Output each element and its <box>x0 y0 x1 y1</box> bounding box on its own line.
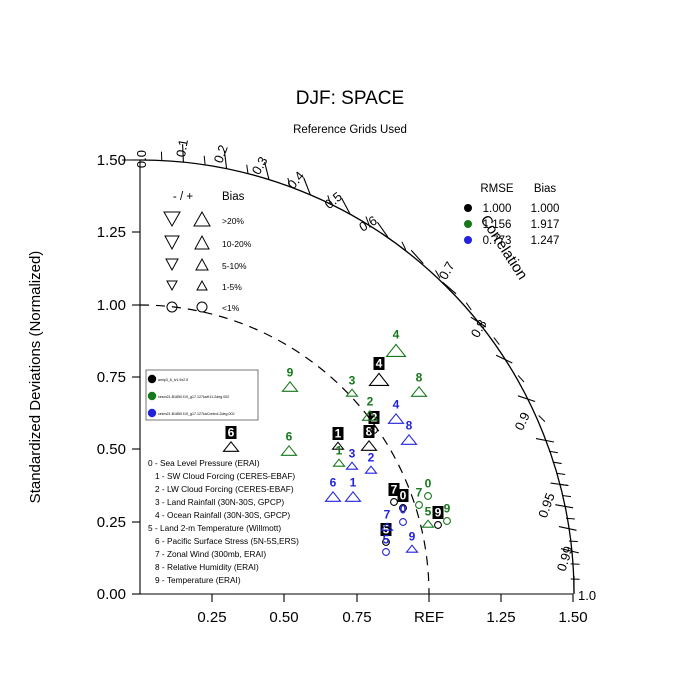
data-point[interactable]: 1 <box>334 444 345 467</box>
stats-legend-rmse-value: 1.000 <box>483 203 512 215</box>
bias-triangle-up-icon <box>196 259 208 270</box>
corr-label: 0.9 <box>511 410 532 433</box>
page-title: DJF: SPACE <box>296 88 404 109</box>
point-triangle-up-icon <box>347 462 358 469</box>
point-circle-icon <box>400 519 407 526</box>
case-dot-icon <box>148 392 156 400</box>
point-triangle-up-icon <box>423 520 434 527</box>
y-axis-label: Standardized Deviations (Normalized) <box>27 251 44 504</box>
data-point[interactable]: 4 <box>387 328 406 357</box>
point-label: 7 <box>416 486 423 500</box>
data-point[interactable]: 8 <box>402 419 417 445</box>
point-label: 9 <box>444 502 451 516</box>
page-subtitle: Reference Grids Used <box>293 124 407 136</box>
point-circle-icon <box>435 522 442 529</box>
data-point[interactable]: 8 <box>362 425 377 451</box>
point-circle-icon <box>444 518 451 525</box>
x-tick-label: 0.75 <box>342 609 371 626</box>
variable-list-item: 8 - Relative Humidity (ERAI) <box>155 562 259 572</box>
variable-list-item: 7 - Zonal Wind (300mb, ERAI) <box>155 549 266 559</box>
point-label: 8 <box>406 419 413 433</box>
x-tick-label: 1.25 <box>486 609 515 626</box>
data-point[interactable]: 5 <box>423 505 434 528</box>
corr-label: 0.99 <box>554 544 576 573</box>
stats-legend-bias-header: Bias <box>534 183 557 195</box>
bias-triangle-down-icon <box>166 259 178 270</box>
case-dot-icon <box>148 409 156 417</box>
point-label: 8 <box>416 371 423 385</box>
stats-legend-rmse-value: 0.773 <box>483 235 512 247</box>
case-legend-label: cesm21.B1850.f19_g17.127kaControl-2deg.0… <box>158 412 235 416</box>
data-point[interactable]: 4 <box>370 357 389 386</box>
y-tick-marks <box>132 160 140 594</box>
variable-list-item: 6 - Pacific Surface Stress (5N-5S,ERS) <box>155 536 299 546</box>
point-label: 4 <box>376 357 383 371</box>
bias-triangle-up-icon <box>195 236 209 249</box>
point-triangle-up-icon <box>283 382 298 391</box>
y-tick-label: 0.75 <box>97 369 126 386</box>
bias-triangle-up-icon <box>194 212 210 226</box>
corr-label: 0.95 <box>535 491 558 520</box>
data-point[interactable]: 4 <box>389 398 404 424</box>
y-tick-label: 1.00 <box>97 297 126 314</box>
bias-triangle-down-icon <box>167 281 177 290</box>
data-point[interactable]: 0 <box>400 503 407 526</box>
data-point[interactable]: 5 <box>383 533 390 556</box>
data-point[interactable]: 7 <box>416 486 423 509</box>
point-label: 5 <box>383 533 390 547</box>
point-circle-icon <box>425 493 432 500</box>
x-tick-labels: 0.25 0.50 0.75 REF 1.25 1.50 <box>197 609 587 626</box>
corr-label: 0.8 <box>468 317 490 340</box>
y-tick-label: 0.25 <box>97 514 126 531</box>
case-legend-label: amip3_6_lv1.9x2.5 <box>158 378 188 382</box>
point-triangle-up-icon <box>387 344 406 356</box>
point-triangle-up-icon <box>326 492 341 501</box>
point-label: 2 <box>367 395 374 409</box>
bias-legend-sign-header: - / + <box>173 191 193 203</box>
variable-list-item: 2 - LW Cloud Forcing (CERES-EBAF) <box>155 484 294 494</box>
data-point[interactable]: 6 <box>282 430 297 456</box>
y-tick-label: 1.25 <box>97 224 126 241</box>
bias-triangle-down-icon <box>165 236 179 249</box>
data-point[interactable]: 6 <box>326 476 341 502</box>
taylor-diagram-svg: DJF: SPACE Reference Grids Used 0.00 0.2… <box>0 0 700 700</box>
point-label: 9 <box>287 366 294 380</box>
data-point[interactable]: 3 <box>347 447 358 470</box>
data-point[interactable]: 8 <box>412 371 427 397</box>
variable-list-item: 9 - Temperature (ERAI) <box>155 575 241 585</box>
y-tick-label: 0.50 <box>97 441 126 458</box>
stats-legend-bias-value: 1.247 <box>531 235 560 247</box>
variable-list-item: 0 - Sea Level Pressure (ERAI) <box>148 458 260 468</box>
point-triangle-up-icon <box>282 446 297 455</box>
variable-list: 0 - Sea Level Pressure (ERAI) 1 - SW Clo… <box>148 458 299 585</box>
point-label: 0 <box>400 489 407 503</box>
point-triangle-up-icon <box>346 492 361 501</box>
point-label: 1 <box>350 476 357 490</box>
point-label: 4 <box>393 328 400 342</box>
y-tick-labels: 0.00 0.25 0.50 0.75 1.00 1.25 1.50 <box>97 152 126 603</box>
corr-label: 0.6 <box>356 213 379 235</box>
x-tick-label: 1.50 <box>558 609 587 626</box>
y-tick-label: 1.50 <box>97 152 126 169</box>
point-triangle-up-icon <box>402 435 417 444</box>
data-point[interactable]: 9 <box>433 506 444 529</box>
point-triangle-up-icon <box>407 545 418 552</box>
point-triangle-up-icon <box>224 442 239 451</box>
point-label: 2 <box>368 451 375 465</box>
point-label: 1 <box>336 444 343 458</box>
x-tick-label: 0.50 <box>269 609 298 626</box>
stats-legend-rmse-value: 1.156 <box>483 219 512 231</box>
point-triangle-up-icon <box>362 441 377 450</box>
stats-legend-dot-icon <box>464 236 472 244</box>
bias-legend-row-label: 10-20% <box>222 239 252 249</box>
point-label: 7 <box>391 483 398 497</box>
stats-legend-bias-value: 1.000 <box>531 203 560 215</box>
point-triangle-up-icon <box>412 387 427 396</box>
point-label: 6 <box>330 476 337 490</box>
corr-label: 1.0 <box>578 588 596 603</box>
bias-legend-row-label: 5-10% <box>222 261 247 271</box>
data-point[interactable]: 9 <box>283 366 298 392</box>
point-circle-icon <box>416 502 423 509</box>
data-point[interactable]: 9 <box>407 530 418 553</box>
point-label: 5 <box>425 505 432 519</box>
point-label: 9 <box>435 506 442 520</box>
variable-list-item: 4 - Ocean Rainfall (30N-30S, GPCP) <box>155 510 290 520</box>
bias-triangle-up-icon <box>197 281 207 290</box>
x-tick-label: 0.25 <box>197 609 226 626</box>
bias-legend: - / + Bias >20% 10-20% 5-10% 1-5% <1% <box>164 191 252 313</box>
data-point[interactable]: 6 <box>224 426 239 452</box>
stats-legend-dot-icon <box>464 220 472 228</box>
bias-legend-row-label: 1-5% <box>222 282 242 292</box>
stats-legend-dot-icon <box>464 204 472 212</box>
point-label: 4 <box>393 398 400 412</box>
stats-legend: RMSE Bias 1.000 1.000 1.156 1.917 0.773 … <box>464 183 559 247</box>
y-tick-label: 0.00 <box>97 586 126 603</box>
point-circle-icon <box>383 549 390 556</box>
point-triangle-up-icon <box>366 466 377 473</box>
bias-circle-pos-icon <box>197 302 207 312</box>
point-label: 3 <box>349 374 356 388</box>
point-triangle-up-icon <box>389 414 404 423</box>
point-label: 9 <box>409 530 416 544</box>
variable-list-item: 1 - SW Cloud Forcing (CERES-EBAF) <box>155 471 295 481</box>
case-dot-icon <box>148 375 156 383</box>
stats-legend-bias-value: 1.917 <box>531 219 560 231</box>
x-tick-label: REF <box>414 609 444 626</box>
point-circle-icon <box>391 499 398 506</box>
point-triangle-up-icon <box>334 459 345 466</box>
data-point[interactable]: 0 <box>425 477 432 500</box>
variable-list-item: 3 - Land Rainfall (30N-30S, GPCP) <box>155 497 284 507</box>
variable-list-item: 5 - Land 2-m Temperature (Willmott) <box>148 523 281 533</box>
point-label: 3 <box>349 447 356 461</box>
corr-label: 0.0 <box>134 150 149 168</box>
point-triangle-up-icon <box>370 373 389 385</box>
data-point[interactable]: 7 <box>389 483 400 506</box>
corr-label: 0.1 <box>173 138 191 158</box>
stats-legend-rmse-header: RMSE <box>480 183 514 195</box>
point-label: 8 <box>366 425 373 439</box>
bias-triangle-down-icon <box>164 212 180 226</box>
x-tick-marks <box>212 594 573 602</box>
taylor-diagram-page: DJF: SPACE Reference Grids Used 0.00 0.2… <box>0 0 700 700</box>
bias-legend-row-label: <1% <box>222 303 240 313</box>
bias-legend-title: Bias <box>222 191 245 203</box>
point-label: 0 <box>400 503 407 517</box>
data-point[interactable]: 1 <box>346 476 361 502</box>
bias-legend-row-label: >20% <box>222 216 244 226</box>
point-label: 6 <box>228 426 235 440</box>
point-label: 0 <box>425 477 432 491</box>
case-legend-label: cesm21.B1850.f19_g17.127kaH11-2deg.002 <box>158 395 229 399</box>
point-label: 7 <box>384 508 391 522</box>
data-points-layer: 182460597932481670593248617095 <box>224 328 451 556</box>
corr-label: 0.5 <box>321 189 344 212</box>
corr-label: 0.4 <box>284 168 307 191</box>
data-point[interactable]: 2 <box>366 451 377 474</box>
point-label: 1 <box>335 427 342 441</box>
point-label: 6 <box>286 430 293 444</box>
case-legend-box: amip3_6_lv1.9x2.5 cesm21.B1850.f19_g17.1… <box>146 370 258 420</box>
corr-label: 0.2 <box>211 143 231 165</box>
data-point[interactable]: 9 <box>444 502 451 525</box>
